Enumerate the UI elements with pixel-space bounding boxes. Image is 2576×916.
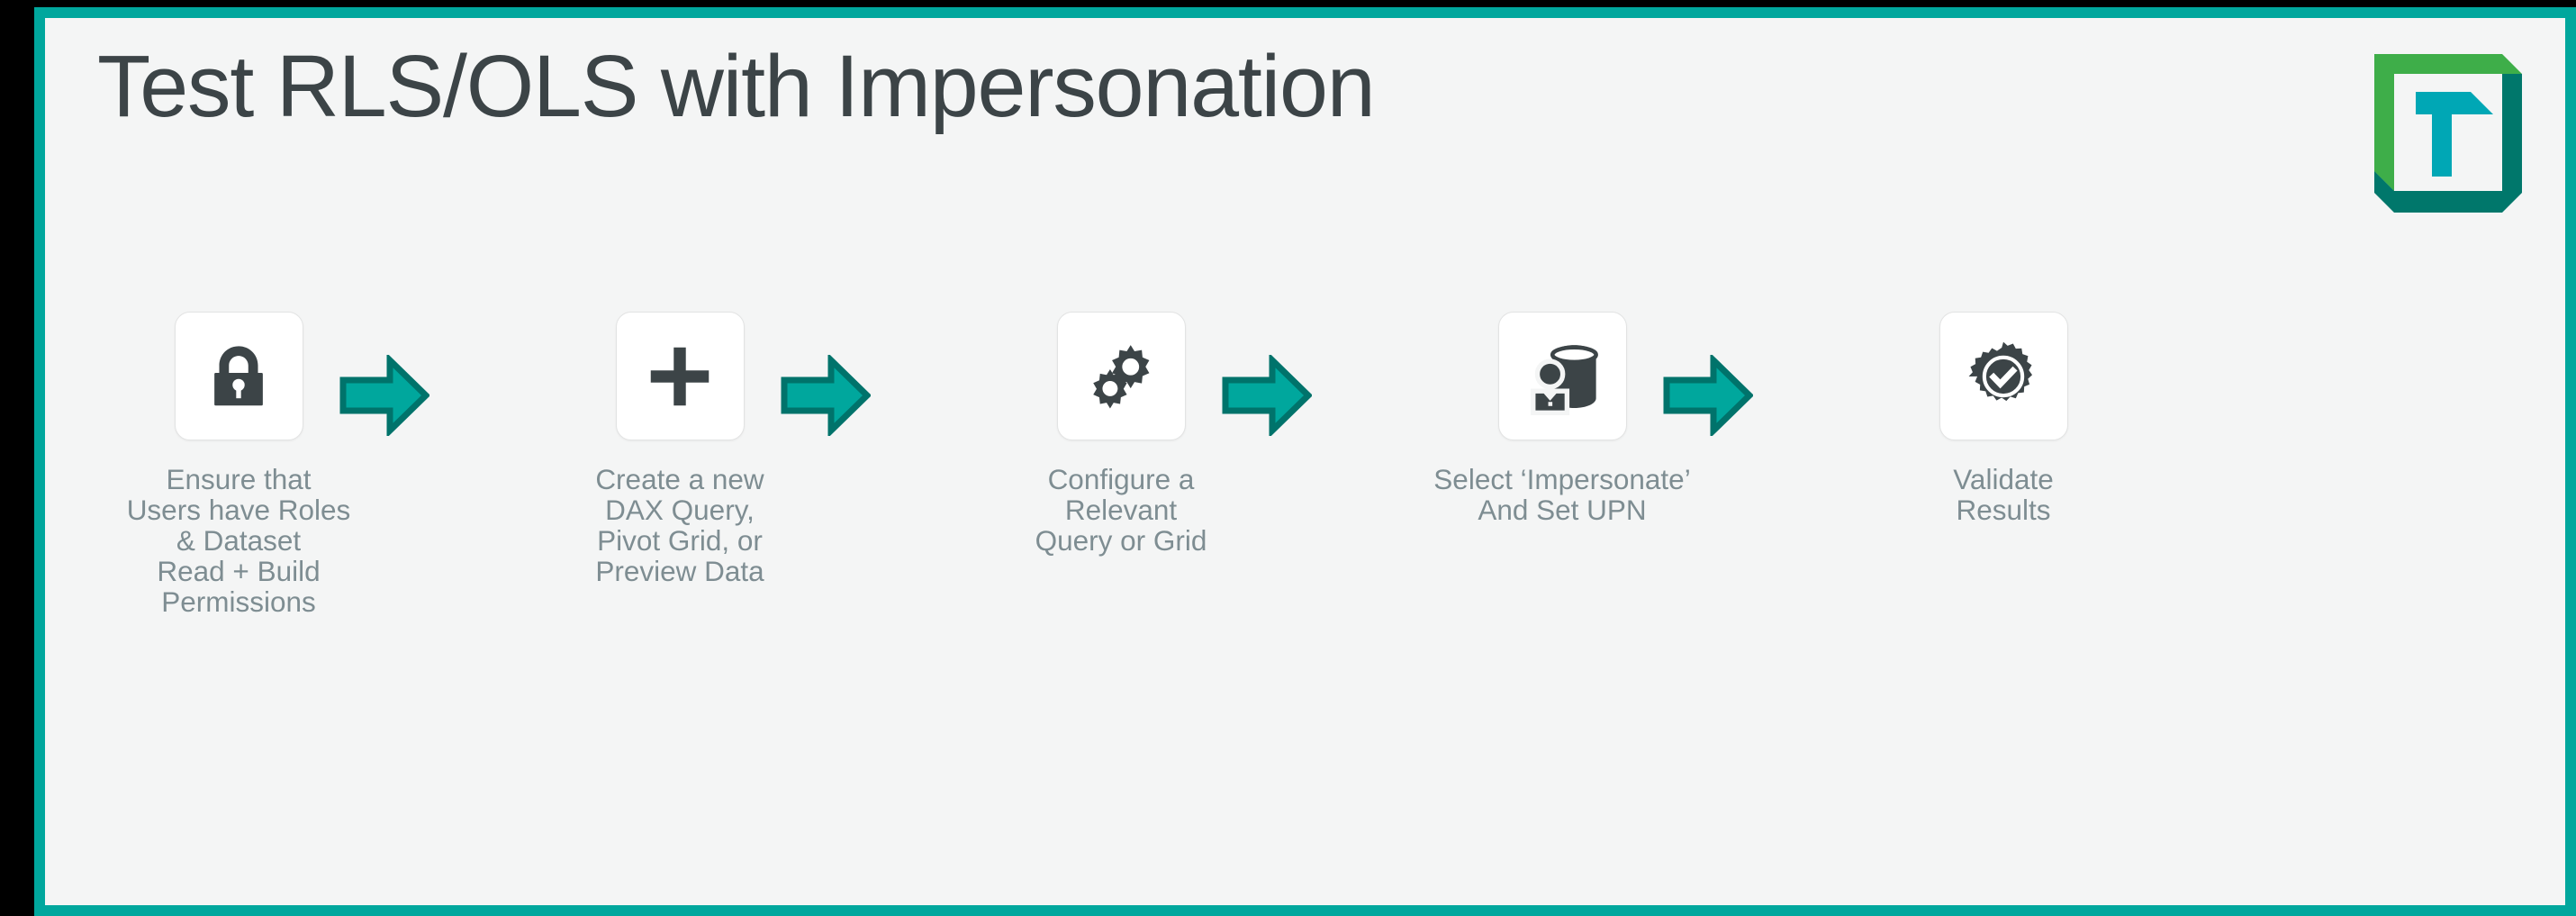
step-2-card[interactable] — [616, 312, 745, 440]
page-title: Test RLS/OLS with Impersonation — [97, 38, 1374, 136]
right-arrow-icon — [339, 355, 429, 436]
step-5-label: Validate Results — [1864, 464, 2143, 525]
right-arrow-icon — [1222, 355, 1312, 436]
step-3-label: Configure a Relevant Query or Grid — [981, 464, 1261, 556]
arrow-step-2-to-3 — [781, 355, 871, 436]
step-1-card[interactable] — [175, 312, 303, 440]
verified-badge-icon — [1966, 340, 2040, 413]
step-5-card[interactable] — [1939, 312, 2068, 440]
step-4-card[interactable] — [1498, 312, 1627, 440]
logo-svg — [2358, 36, 2538, 216]
process-steps: Ensure that Users have Roles & Dataset R… — [99, 288, 2098, 793]
arrow-step-4-to-5 — [1663, 355, 1753, 436]
logo-green-left — [2374, 54, 2394, 191]
step-1-label: Ensure that Users have Roles & Dataset R… — [99, 464, 378, 617]
tabular-editor-logo — [2358, 36, 2538, 216]
right-arrow-icon — [781, 355, 871, 436]
step-2[interactable]: Create a new DAX Query, Pivot Grid, or P… — [540, 288, 819, 586]
step-2-label: Create a new DAX Query, Pivot Grid, or P… — [540, 464, 819, 586]
slide-canvas: Test RLS/OLS with Impersonation — [45, 18, 2565, 905]
database-user-icon — [1523, 338, 1601, 415]
gears-icon — [1082, 338, 1160, 415]
step-3-card[interactable] — [1057, 312, 1186, 440]
arrow-step-3-to-4 — [1222, 355, 1312, 436]
step-1[interactable]: Ensure that Users have Roles & Dataset R… — [99, 288, 378, 617]
slide-root: Test RLS/OLS with Impersonation — [0, 0, 2576, 916]
step-4[interactable]: Select ‘Impersonate’ And Set UPN — [1423, 288, 1702, 525]
plus-icon — [641, 338, 719, 415]
padlock-icon — [200, 338, 277, 415]
right-arrow-icon — [1663, 355, 1753, 436]
slide-teal-frame: Test RLS/OLS with Impersonation — [34, 7, 2576, 916]
step-4-label: Select ‘Impersonate’ And Set UPN — [1423, 464, 1702, 525]
arrow-step-1-to-2 — [339, 355, 429, 436]
step-5[interactable]: Validate Results — [1864, 288, 2143, 525]
step-3[interactable]: Configure a Relevant Query or Grid — [981, 288, 1261, 556]
